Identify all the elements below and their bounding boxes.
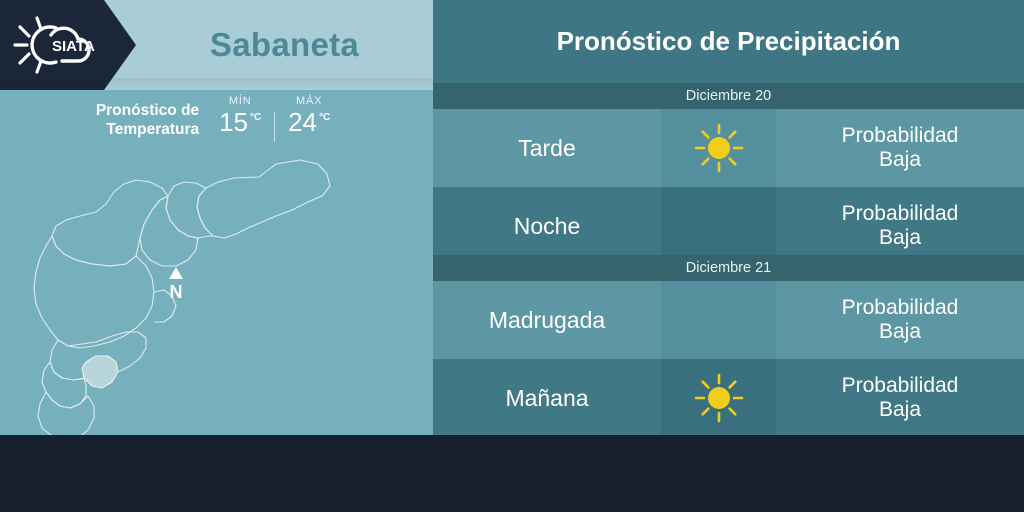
period-label-madrugada: Madrugada	[433, 281, 661, 359]
precipitation-title: Pronóstico de Precipitación	[433, 0, 1024, 83]
sun-cloud-icon: SIATA	[12, 12, 104, 78]
temperature-max-label: MÁX	[296, 96, 322, 107]
siata-logo-block: SIATA	[0, 0, 136, 90]
forecast-row-manana: Mañana	[433, 359, 1024, 437]
precipitation-panel: Pronóstico de Precipitación Diciembre 20…	[433, 0, 1024, 435]
weather-icon-cell-tarde	[661, 109, 776, 187]
probability-cell-tarde: Probabilidad Baja	[776, 109, 1024, 187]
forecast-row-noche: Noche Probabilidad Baja	[433, 187, 1024, 265]
temperature-max-value: 24	[288, 110, 317, 135]
temperature-min-value: 15	[219, 110, 248, 135]
moon-icon	[694, 201, 744, 251]
period-label-noche: Noche	[433, 187, 661, 265]
probability-line2-noche: Baja	[842, 226, 959, 250]
temperature-divider	[274, 112, 275, 142]
temperature-max-value-row: 24 °C	[288, 110, 330, 135]
probability-line1-noche: Probabilidad	[842, 202, 959, 226]
temperature-max: MÁX 24 °C	[281, 96, 337, 135]
probability-line2-madrugada: Baja	[842, 320, 959, 344]
probability-cell-noche: Probabilidad Baja	[776, 187, 1024, 265]
probability-cell-manana: Probabilidad Baja	[776, 359, 1024, 437]
temperature-min-unit: °C	[250, 112, 261, 123]
date-header-1: Diciembre 20	[433, 83, 1024, 109]
probability-line2-manana: Baja	[842, 398, 959, 422]
metro-area-map: N	[0, 150, 433, 435]
probability-line1-tarde: Probabilidad	[842, 124, 959, 148]
sun-icon	[691, 370, 747, 426]
temperature-title-line2: Temperatura	[96, 120, 199, 139]
forecast-row-madrugada: Madrugada Probabilidad Baja	[433, 281, 1024, 359]
left-panel: SIATA Sabaneta Pronóstico de Temperatura…	[0, 0, 433, 435]
forecast-row-tarde: Tarde	[433, 109, 1024, 187]
temperature-max-unit: °C	[319, 112, 330, 123]
north-arrow-icon	[169, 267, 183, 279]
weather-icon-cell-madrugada	[661, 281, 776, 359]
period-label-tarde: Tarde	[433, 109, 661, 187]
header-shadow	[0, 78, 433, 90]
weather-icon-cell-noche	[661, 187, 776, 265]
temperature-title-line1: Pronóstico de	[96, 101, 199, 120]
moon-icon	[694, 295, 744, 345]
compass-label: N	[170, 282, 183, 302]
footer: @siatamedellin www.siata.gov.co Con el a…	[0, 435, 1024, 512]
temperature-min: MÍN 15 °C	[212, 96, 268, 135]
temperature-min-value-row: 15 °C	[219, 110, 261, 135]
period-label-manana: Mañana	[433, 359, 661, 437]
probability-cell-madrugada: Probabilidad Baja	[776, 281, 1024, 359]
weather-forecast-infographic: SIATA Sabaneta Pronóstico de Temperatura…	[0, 0, 1024, 512]
sun-icon	[691, 120, 747, 176]
temperature-min-label: MÍN	[229, 96, 252, 107]
temperature-title: Pronóstico de Temperatura	[96, 96, 199, 140]
map-svg: N	[0, 150, 433, 435]
left-header: SIATA Sabaneta	[0, 0, 433, 90]
probability-line1-manana: Probabilidad	[842, 374, 959, 398]
probability-line2-tarde: Baja	[842, 148, 959, 172]
temperature-values: MÍN 15 °C MÁX 24 °C	[212, 96, 337, 142]
city-title: Sabaneta	[136, 0, 433, 90]
date-header-2: Diciembre 21	[433, 255, 1024, 281]
siata-logo-text: SIATA	[52, 38, 95, 55]
compass: N	[169, 267, 183, 302]
probability-line1-madrugada: Probabilidad	[842, 296, 959, 320]
weather-icon-cell-manana	[661, 359, 776, 437]
